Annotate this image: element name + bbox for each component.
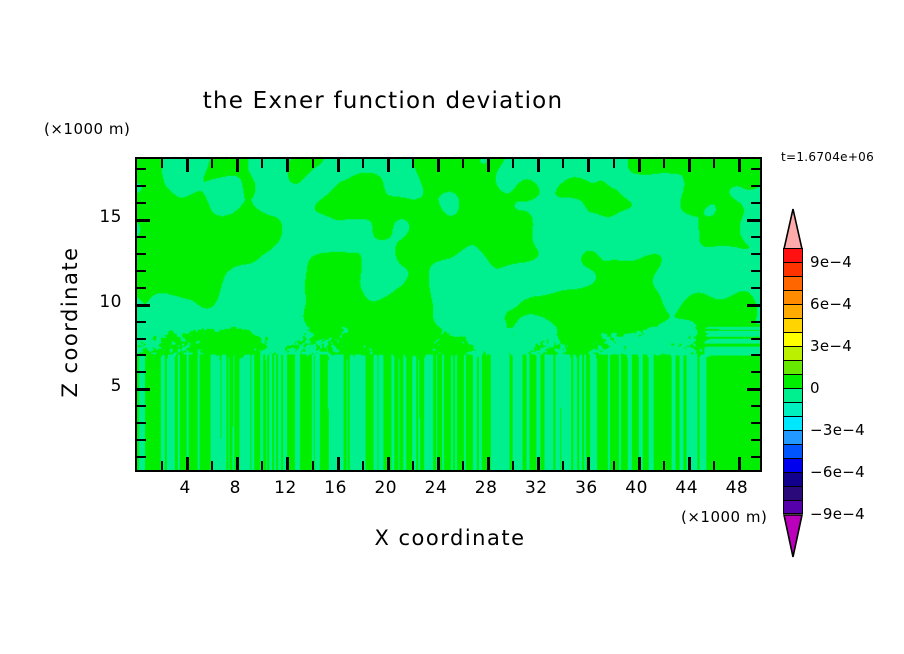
contour-plot-area <box>135 157 762 472</box>
x-axis-tick <box>587 457 590 470</box>
y-axis-tick <box>747 388 760 391</box>
y-axis-tick <box>747 219 760 222</box>
y-axis-tick <box>751 185 760 187</box>
y-axis-tick <box>751 422 760 424</box>
y-axis-tick <box>137 422 146 424</box>
y-axis-tick <box>137 456 146 458</box>
y-axis-tick <box>137 202 146 204</box>
x-axis-tick <box>738 457 741 470</box>
x-axis-tick <box>412 159 414 168</box>
colorbar-band <box>783 374 803 388</box>
y-axis-tick <box>751 253 760 255</box>
x-axis-tick <box>261 461 263 470</box>
x-axis-tick <box>638 457 641 470</box>
colorbar-band <box>783 458 803 472</box>
colorbar-band <box>783 346 803 360</box>
page-title: the Exner function deviation <box>0 88 766 114</box>
colorbar-tick-label: 6e−4 <box>810 295 852 313</box>
x-axis-tick <box>713 461 715 470</box>
y-axis-tick <box>137 338 146 340</box>
x-axis-tick <box>161 461 163 470</box>
x-axis-tick <box>437 457 440 470</box>
x-axis-tick <box>362 461 364 470</box>
x-axis-tick <box>261 159 263 168</box>
y-axis-tick <box>137 219 150 222</box>
x-axis-tick <box>663 461 665 470</box>
y-axis-tick <box>751 338 760 340</box>
colorbar-band <box>783 430 803 444</box>
contour-field-canvas <box>137 159 760 470</box>
colorbar-band <box>783 276 803 290</box>
x-axis-tick <box>688 457 691 470</box>
x-axis-tick <box>387 159 390 172</box>
x-axis-tick <box>362 159 364 168</box>
x-axis-tick-label: 48 <box>707 478 767 498</box>
x-axis-title: X coordinate <box>270 526 630 550</box>
colorbar-band <box>783 248 803 262</box>
x-axis-tick <box>688 159 691 172</box>
y-axis-unit-label: (×1000 m) <box>44 120 130 138</box>
y-axis-tick <box>137 168 146 170</box>
y-axis-tick <box>751 456 760 458</box>
colorbar-tick-label: 9e−4 <box>810 253 852 271</box>
colorbar-band <box>783 402 803 416</box>
x-axis-tick <box>738 159 741 172</box>
y-axis-tick <box>137 354 146 356</box>
colorbar-band <box>783 486 803 500</box>
x-axis-tick <box>512 461 514 470</box>
x-axis-tick <box>437 159 440 172</box>
colorbar-under-arrow-icon <box>783 514 803 558</box>
y-axis-title: Z coordinate <box>58 212 82 432</box>
y-axis-tick <box>137 236 146 238</box>
y-axis-tick <box>751 405 760 407</box>
x-axis-tick <box>537 159 540 172</box>
x-axis-unit-label: (×1000 m) <box>681 508 767 526</box>
y-axis-tick <box>747 304 760 307</box>
x-axis-tick <box>638 159 641 172</box>
y-axis-tick <box>137 304 150 307</box>
x-axis-tick <box>663 159 665 168</box>
x-axis-tick <box>236 457 239 470</box>
y-axis-tick <box>137 439 146 441</box>
y-axis-tick <box>751 287 760 289</box>
x-axis-tick <box>387 457 390 470</box>
colorbar-band <box>783 444 803 458</box>
colorbar-tick-label: −9e−4 <box>810 505 865 523</box>
colorbar-bands <box>783 248 803 514</box>
colorbar-band <box>783 388 803 402</box>
y-axis-tick <box>751 371 760 373</box>
y-axis-tick <box>137 270 146 272</box>
x-axis-tick <box>512 159 514 168</box>
x-axis-tick <box>337 457 340 470</box>
y-axis-tick <box>751 202 760 204</box>
x-axis-tick <box>587 159 590 172</box>
x-axis-tick <box>537 457 540 470</box>
colorbar-band <box>783 332 803 346</box>
x-axis-tick <box>312 461 314 470</box>
x-axis-tick <box>613 461 615 470</box>
colorbar-band <box>783 304 803 318</box>
x-axis-tick <box>462 159 464 168</box>
x-axis-tick <box>312 159 314 168</box>
x-axis-tick <box>613 159 615 168</box>
x-axis-tick <box>462 461 464 470</box>
x-axis-tick <box>186 457 189 470</box>
x-axis-tick <box>487 159 490 172</box>
colorbar-band <box>783 318 803 332</box>
colorbar-tick-label: −6e−4 <box>810 463 865 481</box>
x-axis-tick <box>713 159 715 168</box>
y-axis-tick <box>137 287 146 289</box>
colorbar-band <box>783 416 803 430</box>
x-axis-tick <box>487 457 490 470</box>
y-axis-tick <box>137 405 146 407</box>
x-axis-tick <box>286 457 289 470</box>
colorbar-band <box>783 262 803 276</box>
y-axis-tick <box>137 185 146 187</box>
y-axis-tick <box>751 270 760 272</box>
colorbar-tick-label: 0 <box>810 379 820 397</box>
x-axis-tick <box>186 159 189 172</box>
y-axis-tick <box>751 168 760 170</box>
y-axis-tick-label: 15 <box>78 207 122 227</box>
x-axis-tick <box>286 159 289 172</box>
colorbar-over-arrow-icon <box>783 208 803 250</box>
timestamp-annotation: t=1.6704e+06 <box>781 150 874 164</box>
x-axis-tick <box>562 159 564 168</box>
x-axis-tick <box>161 159 163 168</box>
x-axis-tick <box>211 461 213 470</box>
x-axis-tick <box>337 159 340 172</box>
y-axis-tick <box>137 388 150 391</box>
colorbar-band <box>783 500 803 514</box>
x-axis-tick <box>211 159 213 168</box>
y-axis-tick <box>751 439 760 441</box>
y-axis-tick <box>137 253 146 255</box>
y-axis-tick <box>751 354 760 356</box>
x-axis-tick <box>412 461 414 470</box>
y-axis-tick-label: 10 <box>78 292 122 312</box>
x-axis-tick <box>562 461 564 470</box>
y-axis-tick <box>137 371 146 373</box>
colorbar-band <box>783 360 803 374</box>
y-axis-tick <box>751 236 760 238</box>
colorbar-tick-label: −3e−4 <box>810 421 865 439</box>
colorbar-band <box>783 472 803 486</box>
colorbar-tick-label: 3e−4 <box>810 337 852 355</box>
x-axis-tick <box>236 159 239 172</box>
y-axis-tick <box>137 321 146 323</box>
y-axis-tick <box>751 321 760 323</box>
colorbar-band <box>783 290 803 304</box>
y-axis-tick-label: 5 <box>78 376 122 396</box>
